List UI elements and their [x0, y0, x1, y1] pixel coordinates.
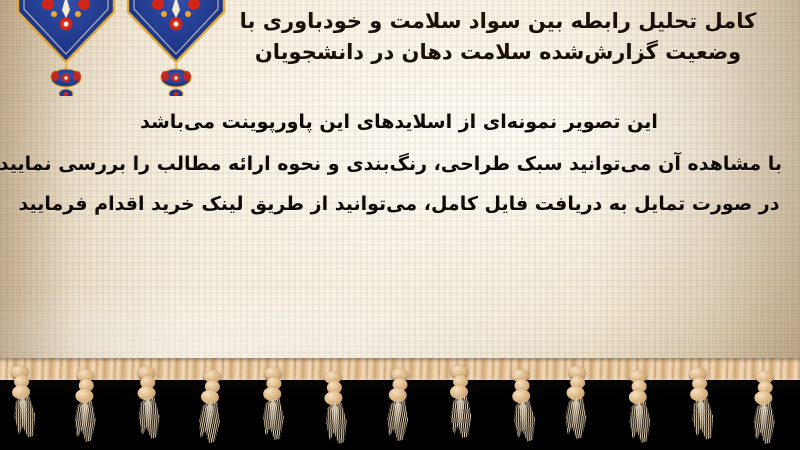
persian-illumination-motif-icon: [124, 0, 228, 96]
fringe-tassel: [259, 367, 286, 443]
fringe-tassel: [507, 368, 538, 446]
carpet-fringe: [0, 358, 800, 450]
slide-title-line-2: وضعیت گزارش‌شده سلامت دهان در دانشجویان: [218, 37, 778, 68]
body-line-2: با مشاهده آن می‌توانید سبک طراحی، رنگ‌بن…: [16, 154, 782, 175]
fringe-tassel: [561, 365, 591, 442]
fringe-tassel: [133, 366, 162, 443]
body-line-3: در صورت تمایل به دریافت فایل کامل، می‌تو…: [16, 194, 782, 215]
fringe-tassel: [71, 369, 100, 446]
slide-title: کامل تحلیل رابطه بین سواد سلامت و خودباو…: [218, 6, 778, 68]
fringe-tassel: [447, 365, 473, 441]
body-line-1: این تصویر نمونه‌ای از اسلایدهای این پاور…: [16, 112, 782, 133]
slide-title-line-1: کامل تحلیل رابطه بین سواد سلامت و خودباو…: [218, 6, 778, 37]
slide-body-text: این تصویر نمونه‌ای از اسلایدهای این پاور…: [16, 112, 782, 215]
fringe-tassel: [625, 370, 652, 446]
fringe-tassel: [320, 370, 350, 447]
fringe-tassel: [382, 367, 413, 445]
presentation-slide: کامل تحلیل رابطه بین سواد سلامت و خودباو…: [0, 0, 800, 450]
persian-illumination-motif-icon: [14, 0, 118, 96]
fringe-tassel: [750, 371, 779, 448]
ornament-group: [6, 0, 236, 96]
